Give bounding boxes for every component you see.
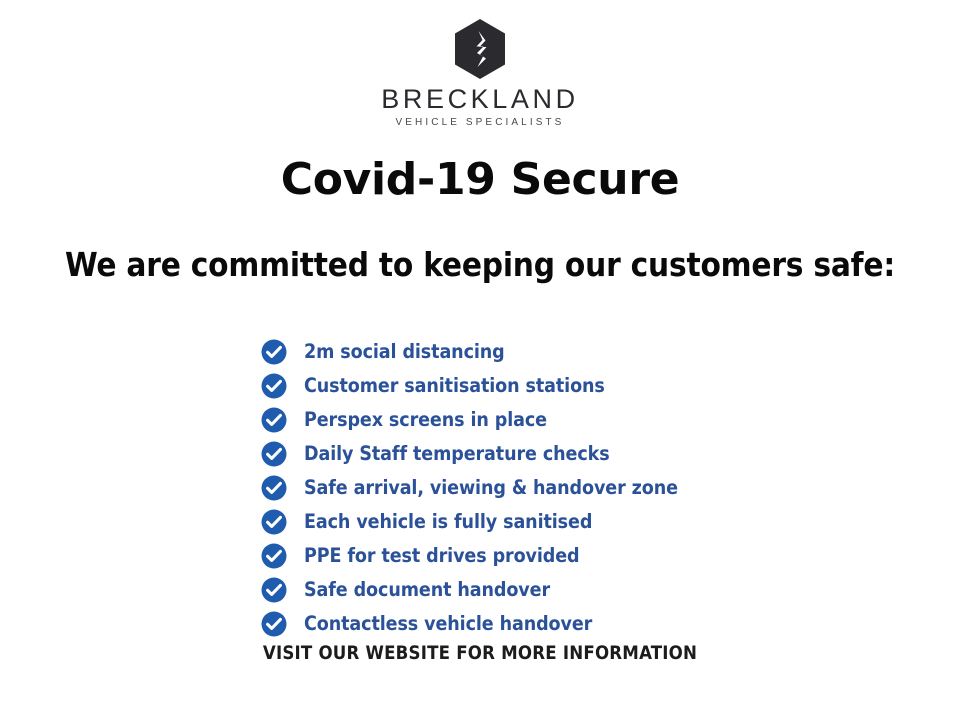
check-circle-icon <box>261 339 287 365</box>
list-item: 2m social distancing <box>261 335 731 369</box>
breckland-hexagon-logo-icon <box>452 18 508 80</box>
footer-cta-text: VISIT OUR WEBSITE FOR MORE INFORMATION <box>0 645 960 664</box>
check-circle-icon <box>261 407 287 433</box>
list-item-label: Daily Staff temperature checks <box>304 444 610 464</box>
covid-19-secure-poster: BRECKLAND VEHICLE SPECIALISTS Covid-19 S… <box>0 0 960 720</box>
list-item: Each vehicle is fully sanitised <box>261 505 731 539</box>
list-item-label: Perspex screens in place <box>304 410 547 430</box>
list-item: Daily Staff temperature checks <box>261 437 731 471</box>
list-item: Safe document handover <box>261 573 731 607</box>
check-circle-icon <box>261 611 287 637</box>
check-circle-icon <box>261 441 287 467</box>
list-item-label: Safe document handover <box>304 580 550 600</box>
list-item-label: Customer sanitisation stations <box>304 376 605 396</box>
list-item: Customer sanitisation stations <box>261 369 731 403</box>
brand-logo: BRECKLAND VEHICLE SPECIALISTS <box>381 18 578 128</box>
check-circle-icon <box>261 475 287 501</box>
list-item-label: Contactless vehicle handover <box>304 614 592 634</box>
list-item: Perspex screens in place <box>261 403 731 437</box>
list-item: PPE for test drives provided <box>261 539 731 573</box>
list-item-label: PPE for test drives provided <box>304 546 580 566</box>
list-item-label: 2m social distancing <box>304 342 505 362</box>
check-circle-icon <box>261 373 287 399</box>
list-item: Safe arrival, viewing & handover zone <box>261 471 731 505</box>
brand-wordmark: BRECKLAND <box>381 86 578 113</box>
page-title: Covid-19 Secure <box>281 158 680 202</box>
list-item: Contactless vehicle handover <box>261 607 731 641</box>
brand-tagline: VEHICLE SPECIALISTS <box>396 118 565 128</box>
check-circle-icon <box>261 543 287 569</box>
check-circle-icon <box>261 577 287 603</box>
list-item-label: Each vehicle is fully sanitised <box>304 512 592 532</box>
list-item-label: Safe arrival, viewing & handover zone <box>304 478 678 498</box>
safety-measures-list: 2m social distancing Customer sanitisati… <box>261 335 731 641</box>
page-subtitle: We are committed to keeping our customer… <box>65 248 895 281</box>
check-circle-icon <box>261 509 287 535</box>
